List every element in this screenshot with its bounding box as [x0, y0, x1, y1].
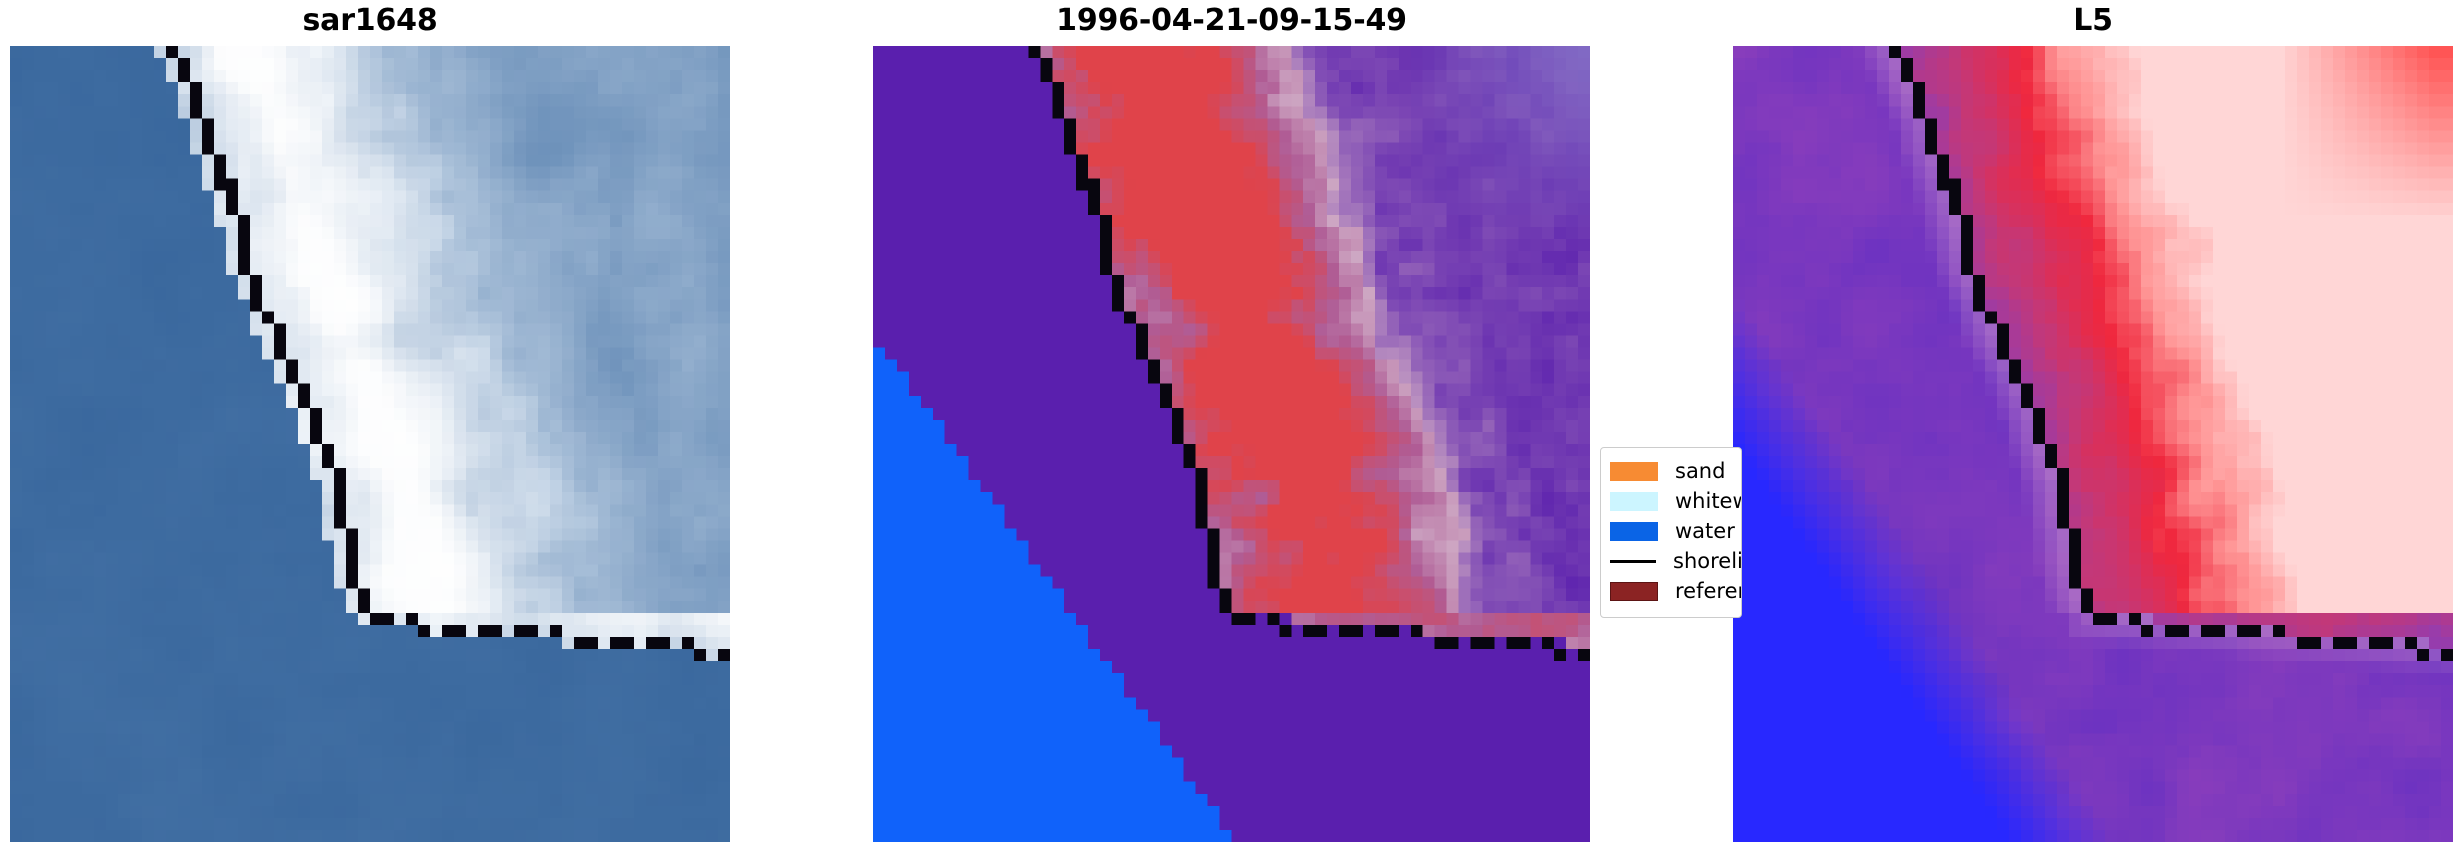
legend-swatch-sand [1610, 462, 1658, 481]
legend-swatch-shoreline [1610, 560, 1656, 563]
classification-image [873, 46, 1590, 842]
legend-swatch-whitewater [1610, 492, 1658, 511]
panel-title-sar1648: sar1648 [10, 0, 730, 42]
panel-sar1648: sar1648 [10, 0, 730, 862]
panel-title-l5: L5 [1733, 0, 2453, 42]
legend-label-shoreline: shoreline [1673, 549, 1742, 573]
legend-item-sand: sand [1601, 456, 1741, 486]
axes-l5 [1733, 46, 2453, 842]
legend-swatch-water [1610, 522, 1658, 541]
legend-item-reference: reference [1601, 576, 1741, 606]
legend-label-whitewater: whitewater [1675, 489, 1742, 513]
panel-l5: L5 [1733, 0, 2453, 862]
legend-item-whitewater: whitewater [1601, 486, 1741, 516]
legend-swatch-reference [1610, 582, 1658, 601]
figure-canvas: sar1648 1996-04-21-09-15-49 L5 sand [0, 0, 2460, 862]
l5-image [1733, 46, 2453, 842]
sar-image [10, 46, 730, 842]
legend-label-reference: reference [1675, 579, 1742, 603]
panel-classification: 1996-04-21-09-15-49 [873, 0, 1590, 862]
legend-item-shoreline: shoreline [1601, 546, 1741, 576]
axes-sar1648 [10, 46, 730, 842]
legend-label-water: water [1675, 519, 1735, 543]
axes-classification [873, 46, 1590, 842]
legend: sand whitewater water shoreline referenc… [1600, 447, 1742, 618]
legend-label-sand: sand [1675, 459, 1725, 483]
panel-title-classification: 1996-04-21-09-15-49 [873, 0, 1590, 42]
legend-item-water: water [1601, 516, 1741, 546]
